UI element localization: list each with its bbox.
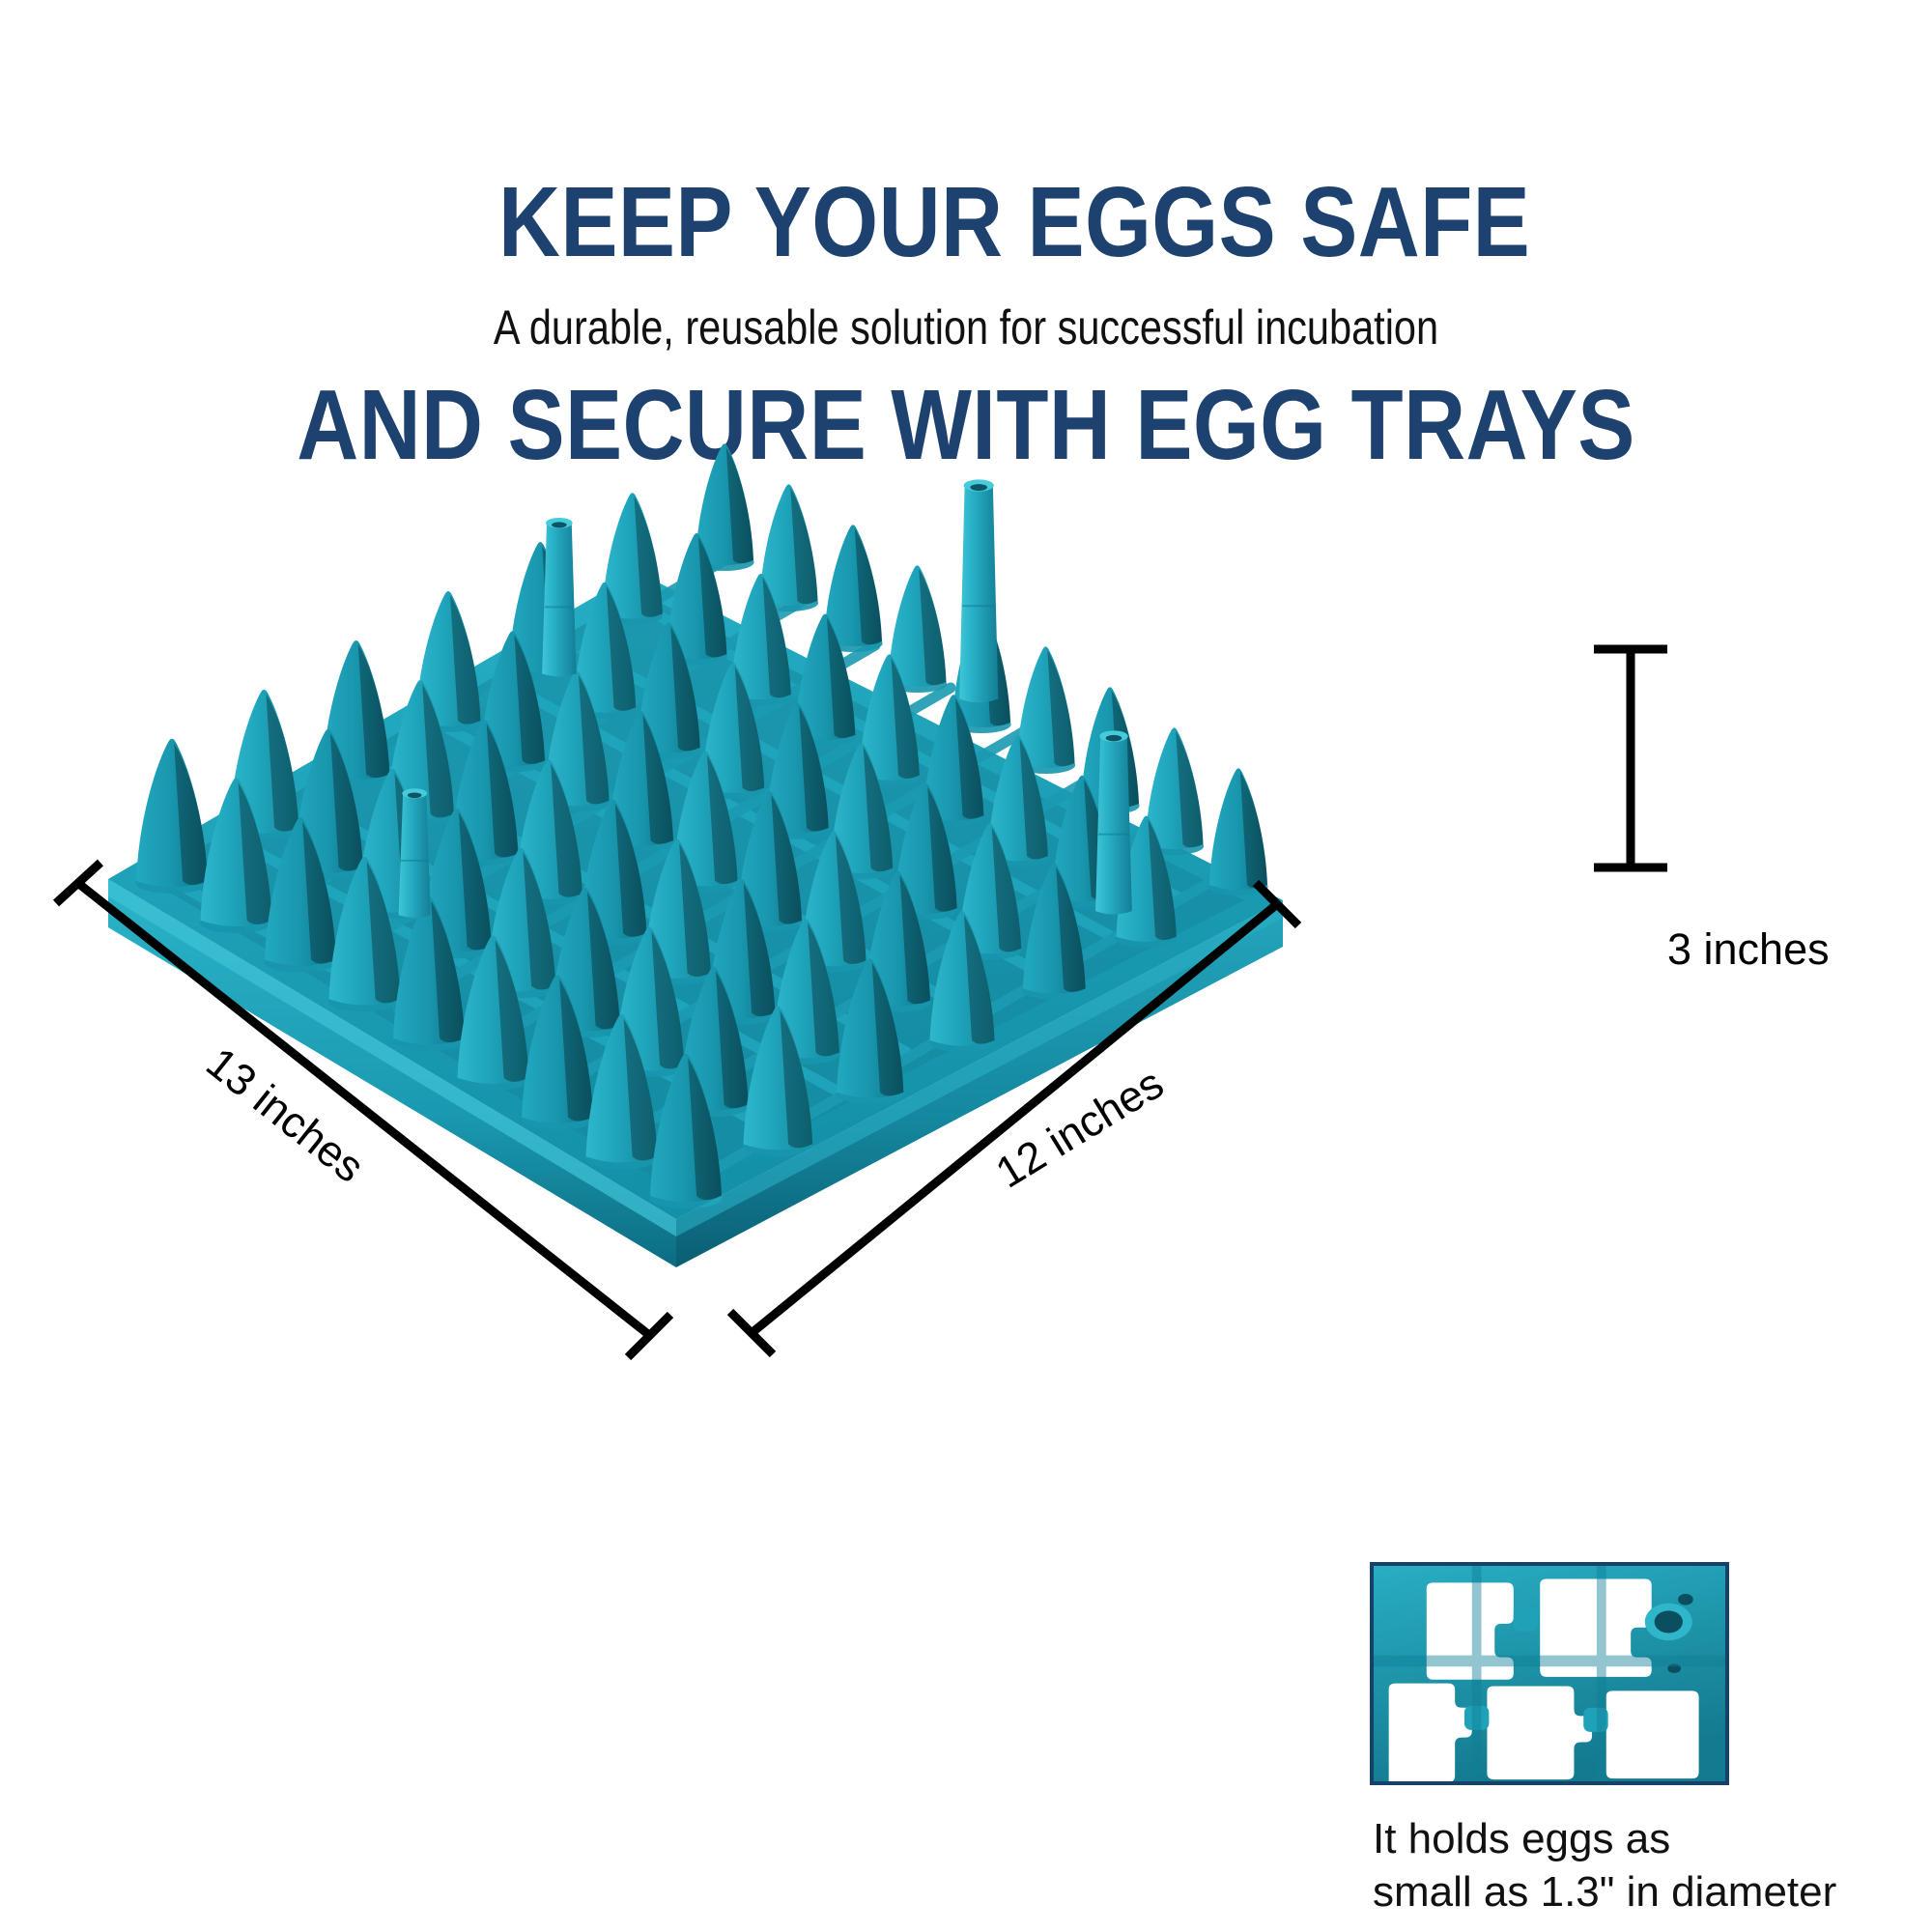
headline-line-2: AND SECURE WITH EGG TRAYS bbox=[135, 374, 1797, 475]
inset-detail-photo bbox=[1370, 1562, 1729, 1785]
depth-cap-start bbox=[730, 1312, 773, 1354]
tray-bottom-view bbox=[1374, 1566, 1725, 1781]
stacking-post bbox=[959, 479, 998, 702]
width-cap-end bbox=[628, 1315, 670, 1357]
product-illustration bbox=[58, 464, 1430, 1314]
cone bbox=[1208, 768, 1267, 895]
cone bbox=[135, 739, 208, 894]
stacking-post bbox=[1095, 730, 1132, 914]
page-subtitle: A durable, reusable solution for success… bbox=[164, 299, 1768, 355]
headline-line-1: KEEP YOUR EGGS SAFE bbox=[498, 166, 1530, 277]
height-dimension-label: 3 inches bbox=[1667, 924, 1830, 975]
stacking-post bbox=[542, 518, 576, 676]
inset-caption: It holds eggs as small as 1.3" in diamet… bbox=[1373, 1813, 1932, 1918]
stacking-post bbox=[399, 788, 431, 918]
egg-tray-render bbox=[58, 464, 1430, 1314]
infographic-page: KEEP YOUR EGGS SAFE AND SECURE WITH EGG … bbox=[0, 0, 1932, 1932]
